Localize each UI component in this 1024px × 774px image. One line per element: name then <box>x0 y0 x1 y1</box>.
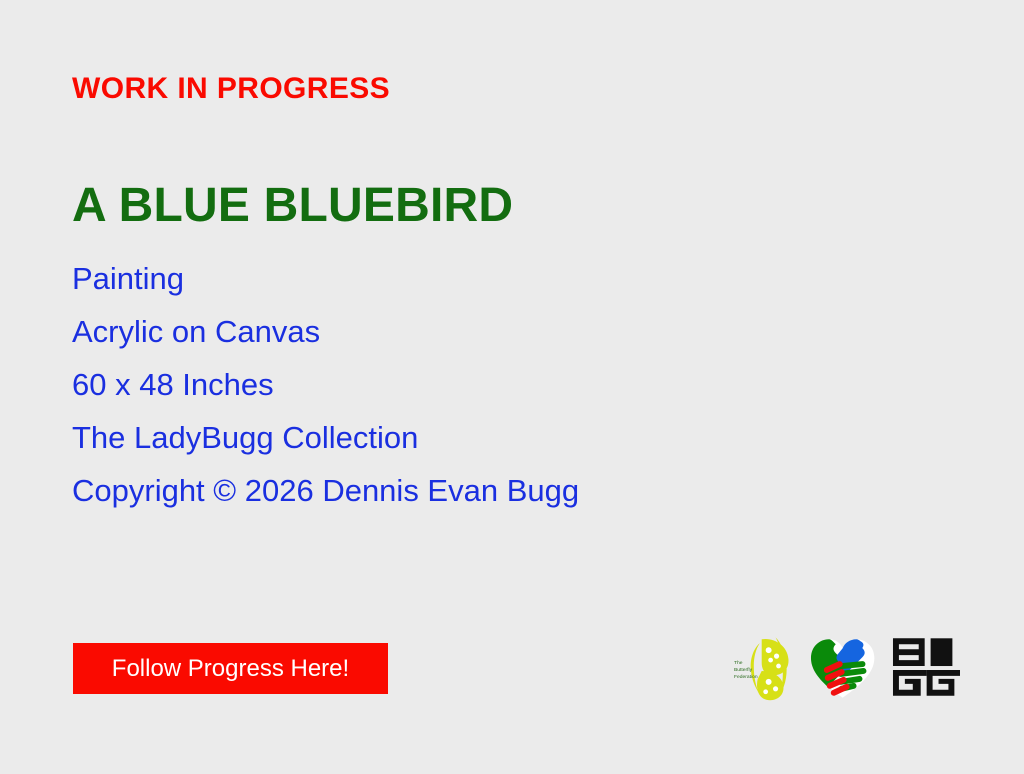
logo-row: The Butterfly Federation <box>732 632 960 706</box>
status-eyebrow: WORK IN PROGRESS <box>72 74 390 104</box>
artwork-details-list: Painting Acrylic on Canvas 60 x 48 Inche… <box>72 252 579 517</box>
butterfly-logo: The Butterfly Federation <box>732 633 795 705</box>
detail-collection: The LadyBugg Collection <box>72 411 579 464</box>
detail-copyright: Copyright © 2026 Dennis Evan Bugg <box>72 464 579 517</box>
detail-dimensions: 60 x 48 Inches <box>72 358 579 411</box>
artwork-info-card: WORK IN PROGRESS A BLUE BLUEBIRD Paintin… <box>0 0 1024 774</box>
butterfly-logo-line-1: The <box>734 660 743 666</box>
page-title: A BLUE BLUEBIRD <box>72 182 513 230</box>
butterfly-logo-line-2: Butterfly <box>734 667 753 673</box>
follow-progress-button[interactable]: Follow Progress Here! <box>73 643 388 694</box>
butterfly-logo-line-3: Federation <box>734 674 758 680</box>
bugg-monogram-logo <box>891 636 960 702</box>
detail-medium: Painting <box>72 252 579 305</box>
detail-materials: Acrylic on Canvas <box>72 305 579 358</box>
handshake-heart-logo <box>809 636 876 702</box>
